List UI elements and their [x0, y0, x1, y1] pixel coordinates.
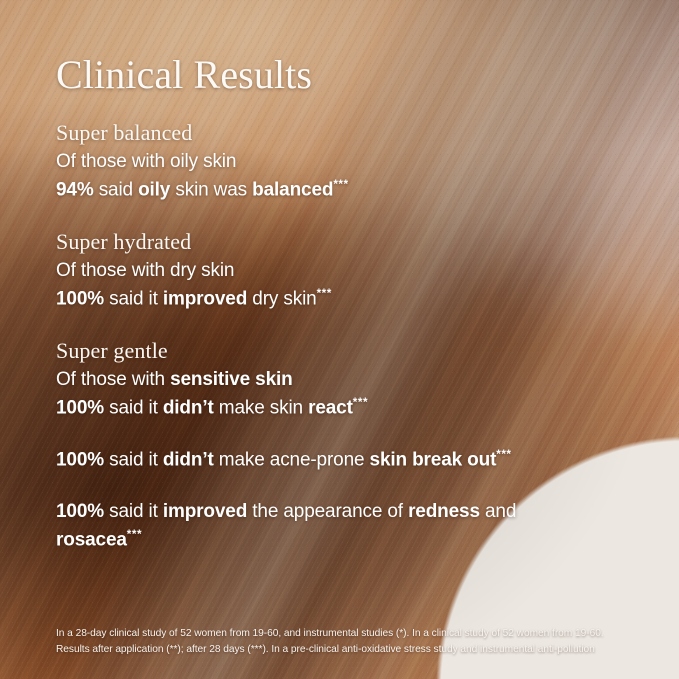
claim-heading: Super balanced — [56, 119, 526, 147]
study-disclaimer-line-1: In a 28-day clinical study of 52 women f… — [56, 626, 642, 642]
claim-stat-emphasis: didn’t — [163, 449, 214, 470]
claim-stat-line: 100% said it didn’t make acne-prone skin… — [56, 446, 526, 474]
claim-block-super-gentle: Super gentle Of those with sensitive ski… — [56, 337, 526, 422]
claim-block-super-balanced: Super balanced Of those with oily skin 9… — [56, 119, 526, 204]
claim-subline-text: Of those with dry skin — [56, 260, 234, 281]
claim-stat-text: dry skin — [247, 288, 316, 309]
claim-stat-emphasis: redness — [408, 501, 480, 522]
claim-stat-value: 94% — [56, 179, 94, 200]
claim-stat-text: and — [480, 501, 516, 522]
claim-stat-text: said it — [104, 397, 163, 418]
claim-heading: Super gentle — [56, 337, 526, 365]
footnote-marker: *** — [333, 178, 348, 191]
claim-stat-line: 94% said oily skin was balanced*** — [56, 176, 526, 204]
claim-stat-emphasis: balanced — [252, 179, 333, 200]
claim-stat-value: 100% — [56, 397, 104, 418]
claim-stat-emphasis: oily — [138, 179, 170, 200]
claim-stat-text: said — [94, 179, 139, 200]
claim-stat-emphasis: improved — [163, 288, 247, 309]
claim-stat-emphasis: didn’t — [163, 397, 214, 418]
claim-subline: Of those with oily skin — [56, 148, 526, 176]
claims-list: Super balanced Of those with oily skin 9… — [56, 119, 526, 554]
claim-block-super-hydrated: Super hydrated Of those with dry skin 10… — [56, 228, 526, 313]
claim-stat-line: 100% said it improved the appearance of … — [56, 498, 526, 554]
claim-stat-text: make skin — [214, 397, 308, 418]
claim-stat-text: make acne-prone — [214, 449, 370, 470]
claim-stat-value: 100% — [56, 501, 104, 522]
claim-stat-text: skin was — [170, 179, 252, 200]
study-disclaimer-line-2: Results after application (**); after 28… — [56, 642, 642, 658]
claim-stat-text: said it — [104, 449, 163, 470]
footnote-marker: *** — [353, 396, 368, 409]
footnote-marker: *** — [496, 448, 511, 461]
claim-stat-text: said it — [104, 288, 163, 309]
claim-stat-emphasis: improved — [163, 501, 247, 522]
claim-heading: Super hydrated — [56, 228, 526, 256]
claim-subline-text: Of those with oily skin — [56, 151, 236, 172]
claim-stat-text: the appearance of — [247, 501, 408, 522]
claim-block-redness-rosacea: 100% said it improved the appearance of … — [56, 498, 526, 554]
claim-stat-line: 100% said it didn’t make skin react*** — [56, 394, 526, 422]
claim-stat-text: said it — [104, 501, 163, 522]
claim-stat-value: 100% — [56, 288, 104, 309]
footnote-marker: *** — [317, 287, 332, 300]
claim-stat-value: 100% — [56, 449, 104, 470]
claim-stat-emphasis: rosacea — [56, 529, 127, 550]
poster-content: Clinical Results Super balanced Of those… — [0, 0, 679, 679]
claim-subline: Of those with sensitive skin — [56, 366, 526, 394]
footnote-marker: *** — [127, 528, 142, 541]
claim-subline: Of those with dry skin — [56, 257, 526, 285]
clinical-results-poster: Clinical Results Super balanced Of those… — [0, 0, 679, 679]
claim-subline-emphasis: sensitive skin — [170, 369, 293, 390]
claim-stat-line: 100% said it improved dry skin*** — [56, 285, 526, 313]
study-disclaimer: In a 28-day clinical study of 52 women f… — [56, 626, 642, 658]
page-title: Clinical Results — [56, 54, 312, 96]
claim-stat-emphasis: skin break out — [370, 449, 497, 470]
claim-stat-emphasis: react — [308, 397, 353, 418]
claim-subline-text: Of those with — [56, 369, 170, 390]
claim-block-acne-prone: 100% said it didn’t make acne-prone skin… — [56, 446, 526, 474]
